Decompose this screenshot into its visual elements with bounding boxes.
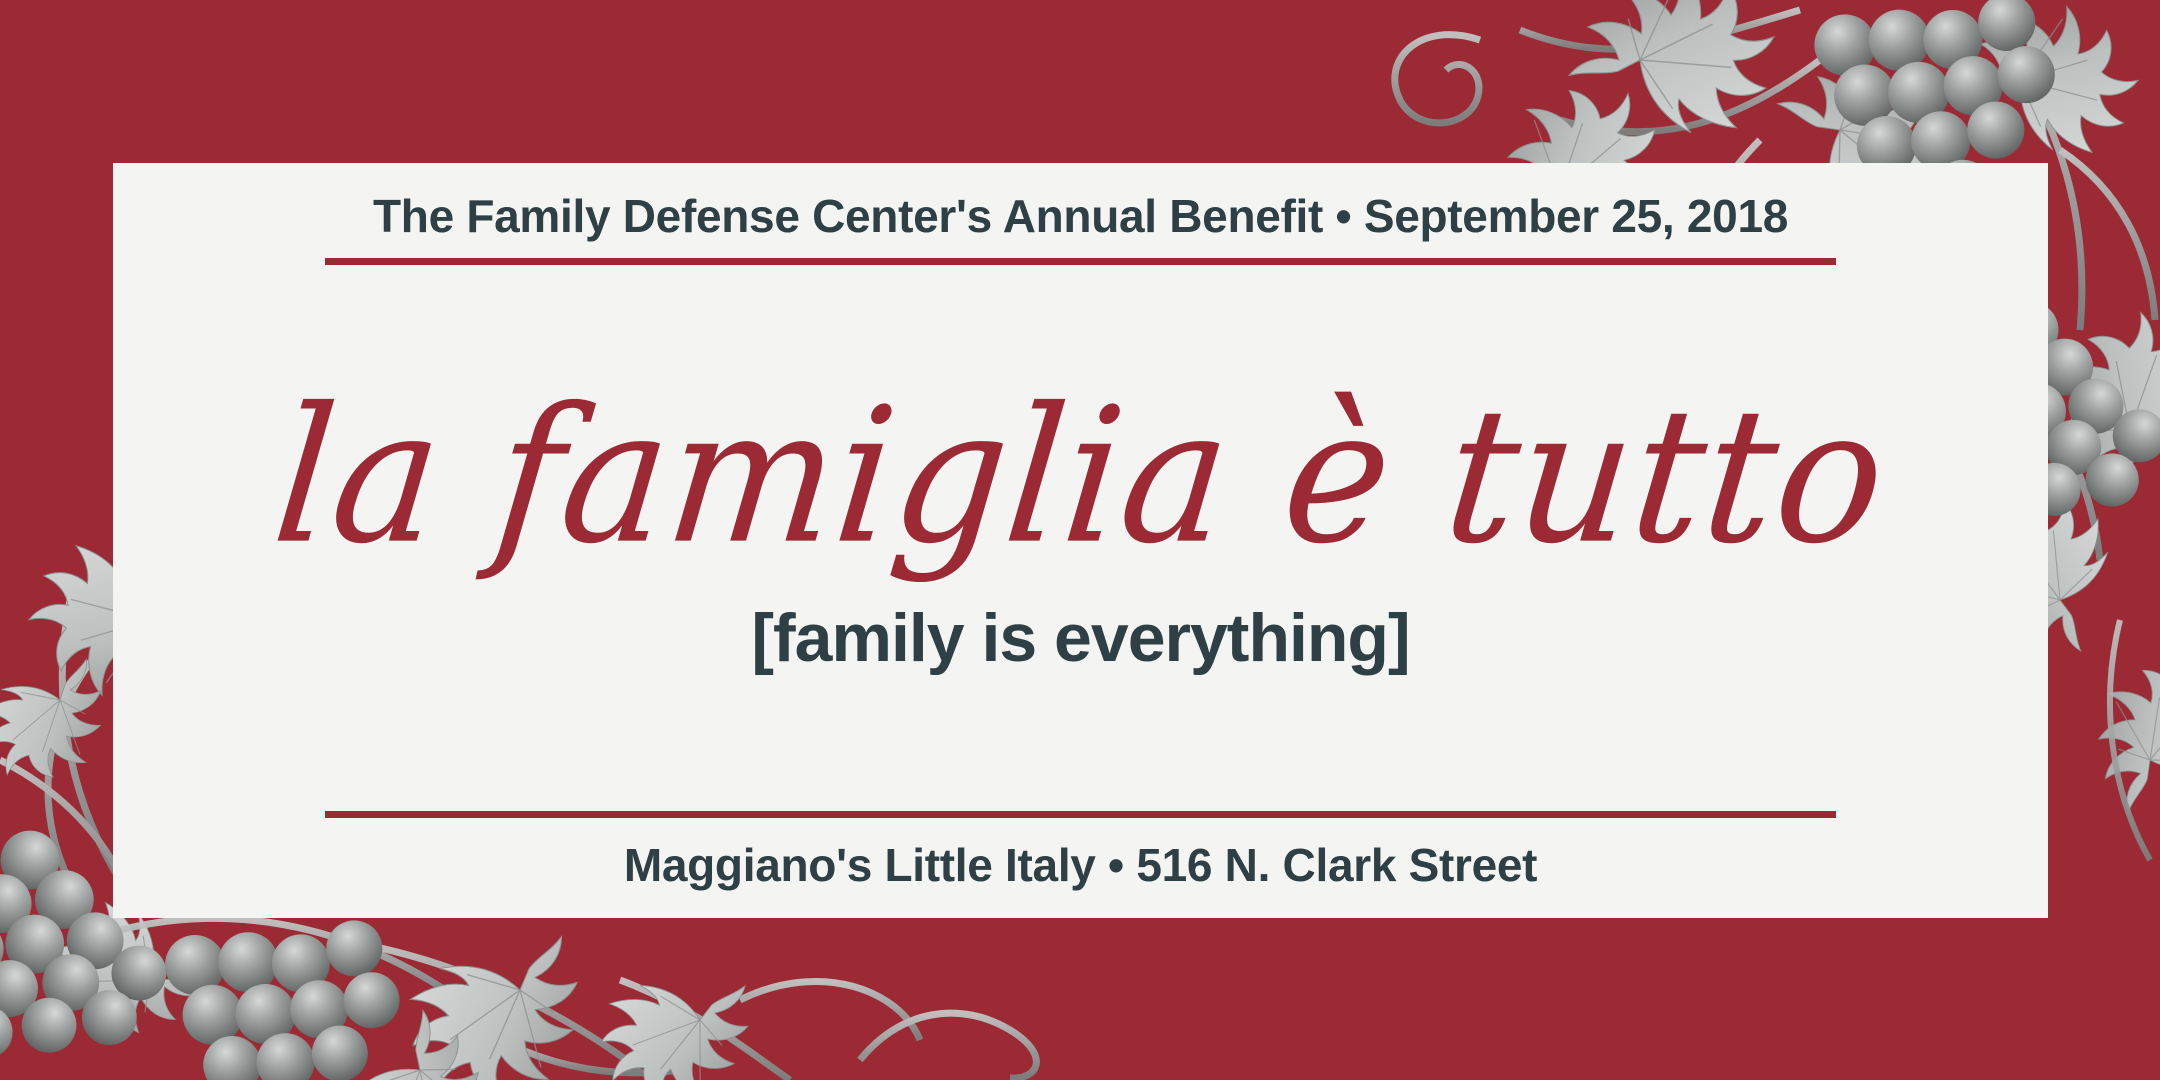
grape-leaf-right-edge bbox=[2061, 636, 2160, 827]
grape-leaf-bottom-left bbox=[326, 916, 763, 1080]
italian-script-headline: la famiglia è tutto bbox=[267, 384, 1894, 571]
footer-divider-rule bbox=[325, 811, 1836, 818]
event-invitation-poster: The Family Defense Center's Annual Benef… bbox=[0, 0, 2160, 1080]
english-translation-text: [family is everything] bbox=[751, 599, 1409, 677]
vine-tendril-bottom-left bbox=[120, 918, 1036, 1080]
card-header: The Family Defense Center's Annual Benef… bbox=[325, 163, 1836, 265]
invitation-card: The Family Defense Center's Annual Benef… bbox=[113, 163, 2048, 918]
vine-tendril-left-edge bbox=[0, 600, 130, 900]
venue-address-text: Maggiano's Little Italy • 516 N. Clark S… bbox=[325, 838, 1836, 892]
headline-block: la famiglia è tutto [family is everythin… bbox=[325, 255, 1836, 811]
card-footer: Maggiano's Little Italy • 516 N. Clark S… bbox=[325, 811, 1836, 918]
event-header-text: The Family Defense Center's Annual Benef… bbox=[325, 189, 1836, 244]
vine-tendril-right-edge bbox=[2110, 620, 2150, 860]
